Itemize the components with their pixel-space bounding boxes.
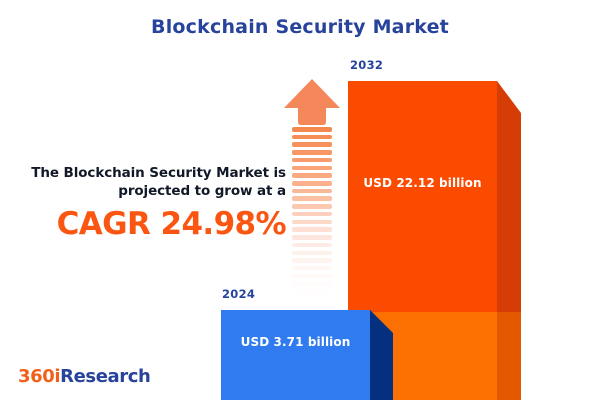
page-title: Blockchain Security Market bbox=[0, 16, 600, 38]
arrow-stripe bbox=[292, 196, 332, 201]
logo-text-research: Research bbox=[60, 366, 150, 387]
arrow-stripe bbox=[292, 281, 332, 286]
arrow-stripe bbox=[292, 227, 332, 232]
bar-2032-side-base-segment bbox=[497, 312, 521, 400]
arrow-stripe bbox=[292, 166, 332, 171]
arrow-stripe bbox=[292, 204, 332, 209]
arrow-stripe bbox=[292, 289, 332, 294]
arrow-stripe bbox=[292, 251, 332, 256]
arrow-stripe bbox=[292, 243, 332, 248]
cagr-annotation: The Blockchain Security Market is projec… bbox=[24, 165, 286, 241]
arrow-stripe bbox=[292, 189, 332, 194]
arrow-stripe bbox=[292, 127, 332, 132]
arrow-stripe bbox=[292, 135, 332, 140]
arrow-stripe bbox=[292, 173, 332, 178]
market-size-infographic: Blockchain Security Market The Blockchai… bbox=[0, 0, 600, 400]
arrow-stripe bbox=[292, 158, 332, 163]
bar-2024: USD 3.71 billion bbox=[221, 310, 393, 400]
growth-arrow-graphic bbox=[283, 78, 341, 294]
bar-2032-year-label: 2032 bbox=[350, 58, 383, 72]
arrow-stripe bbox=[292, 212, 332, 217]
cagr-value: CAGR 24.98% bbox=[24, 207, 286, 241]
annotation-lead-text: The Blockchain Security Market is projec… bbox=[24, 165, 286, 201]
bar-2024-year-label: 2024 bbox=[222, 287, 255, 301]
arrow-stripe bbox=[292, 266, 332, 271]
bar-2032-value-label: USD 22.12 billion bbox=[348, 176, 497, 190]
arrow-up-icon bbox=[283, 78, 341, 126]
arrow-stripe bbox=[292, 258, 332, 263]
arrow-stripe bbox=[292, 220, 332, 225]
arrow-stripe bbox=[292, 274, 332, 279]
arrow-stripe bbox=[292, 181, 332, 186]
arrow-stripe-stack bbox=[292, 127, 332, 294]
bar-2024-side-face bbox=[370, 310, 393, 400]
arrow-stripe bbox=[292, 235, 332, 240]
arrow-stripe bbox=[292, 150, 332, 155]
logo-text-360: 360 bbox=[18, 366, 54, 387]
brand-logo[interactable]: 360iResearch bbox=[18, 366, 150, 387]
bar-2024-value-label: USD 3.71 billion bbox=[221, 335, 370, 349]
arrow-stripe bbox=[292, 142, 332, 147]
bar-2024-front-face: USD 3.71 billion bbox=[221, 310, 370, 400]
